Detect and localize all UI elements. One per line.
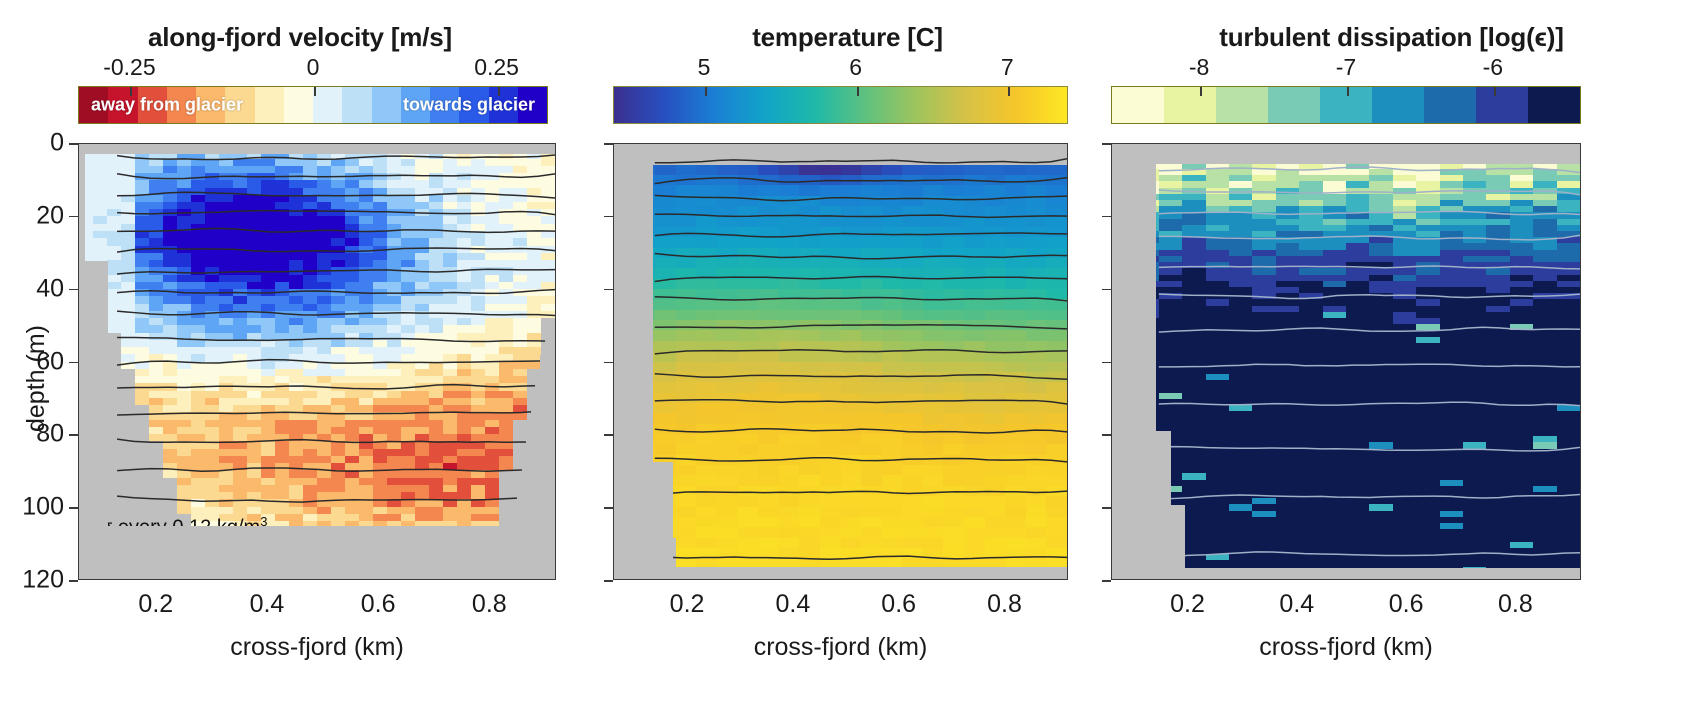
y-axis-tick (1102, 580, 1111, 582)
colorbar-tick-mark (1494, 87, 1496, 96)
bathymetry-mask-left (79, 144, 85, 579)
y-axis-tick (1102, 216, 1111, 218)
colorbar-tick-label: -0.25 (103, 54, 155, 81)
colorbar-tick-label: 0.25 (474, 54, 519, 81)
x-axis-tick-label: 0.2 (138, 590, 173, 619)
isopycnal-contour (655, 159, 1067, 163)
isopycnal-contour (655, 556, 1067, 559)
panel1-colorbar-title: along-fjord velocity [m/s] (0, 22, 600, 53)
x-axis-tick-label: 0.4 (250, 590, 285, 619)
isopycnal-contour (655, 458, 1067, 462)
isopycnal-contour (1159, 294, 1580, 299)
y-axis-tick (604, 216, 613, 218)
colorbar-tick-label: 5 (698, 54, 711, 81)
colorbar-band-3 (1372, 87, 1424, 123)
y-axis-tick-label: 100 (0, 493, 64, 522)
isopycnal-contour (1159, 235, 1580, 240)
x-axis-tick-label: 0.8 (987, 590, 1022, 619)
bathymetry-mask-bottom (79, 526, 555, 579)
isopycnal-contour (1159, 211, 1580, 214)
panel1-colorbar: away from glacier towards glacier (78, 86, 548, 124)
y-axis-tick-label: 120 (0, 566, 64, 595)
x-axis-tick-label: 0.8 (1498, 590, 1533, 619)
figure-root: along-fjord velocity [m/s] -0.2500.25 aw… (0, 0, 1688, 712)
isopycnal-contour (117, 439, 555, 442)
isopycnal-contour (117, 338, 555, 342)
y-axis-tick (604, 289, 613, 291)
y-axis-tick (69, 507, 78, 509)
isopycnal-contour (117, 360, 555, 366)
isopycnal-contour (655, 350, 1067, 354)
colorbar-annotation-away: away from glacier (91, 95, 243, 116)
isopycnal-contour (1159, 447, 1580, 451)
isopycnal-contour (1159, 495, 1580, 500)
colorbar-band-4 (1320, 87, 1372, 123)
colorbar-band-2 (1424, 87, 1476, 123)
isopycnal-contour (1159, 364, 1580, 367)
colorbar-tick-mark (1200, 87, 1202, 96)
colorbar-tick-label: -6 (1483, 54, 1503, 81)
panel3-colorbar-title-text: turbulent dissipation [log(ϵ)] (1219, 22, 1563, 52)
panel-temperature: temperature [C] 567 0.20.40.60.8 cross-f… (600, 0, 1095, 712)
panel1-colorbar-ticklabels: -0.2500.25 (78, 54, 548, 80)
x-axis-tick-label: 0.2 (670, 590, 705, 619)
y-axis-tick (69, 216, 78, 218)
panel1-x-axis-label: cross-fjord (km) (230, 633, 404, 662)
isopycnal-contour (117, 174, 555, 179)
isopycnal-contour (117, 228, 555, 232)
panel2-colorbar (613, 86, 1068, 124)
y-axis-tick (1102, 289, 1111, 291)
panel2-colorbar-ticklabels: 567 (613, 54, 1068, 80)
x-axis-tick-label: 0.6 (361, 590, 396, 619)
colorbar-tick-mark (498, 87, 500, 96)
colorbar-tick-mark (705, 87, 707, 96)
isopycnal-contour (655, 214, 1067, 217)
isopycnal-contour (655, 195, 1067, 200)
colorbar-tick-label: 7 (1001, 54, 1014, 81)
surface-mask (614, 144, 1067, 157)
x-axis-tick-label: 0.4 (775, 590, 810, 619)
colorbar-annotation-towards: towards glacier (403, 95, 535, 116)
isopycnal-contour (117, 211, 555, 215)
isopycnal-contour (1159, 327, 1580, 332)
panel-along-fjord-velocity: along-fjord velocity [m/s] -0.2500.25 aw… (0, 0, 600, 712)
isopycnal-contour (655, 325, 1067, 329)
colorbar-band-7 (1164, 87, 1216, 123)
y-axis-tick (1102, 143, 1111, 145)
panel3-x-axis-label: cross-fjord (km) (1259, 633, 1433, 662)
x-axis-tick-label: 0.2 (1170, 590, 1205, 619)
colorbar-band-7 (313, 87, 342, 123)
x-axis-tick-label: 0.6 (1389, 590, 1424, 619)
colorbar-tick-mark (314, 87, 316, 96)
y-axis-tick (1102, 434, 1111, 436)
isopycnal-contour (1159, 167, 1580, 172)
y-axis-tick (604, 362, 613, 364)
colorbar-tick-mark (857, 87, 859, 96)
surface-mask (1112, 144, 1580, 164)
isopycnal-contour (655, 297, 1067, 301)
isopycnal-contour (655, 429, 1067, 433)
isopycnal-contour (117, 409, 555, 415)
y-axis-tick-label: 0 (0, 129, 64, 158)
isopycnal-contour (117, 155, 555, 160)
y-axis-tick (604, 580, 613, 582)
isopycnal-contour (1159, 190, 1580, 195)
x-axis-tick-label: 0.8 (472, 590, 507, 619)
isopycnal-contour (117, 385, 555, 389)
colorbar-tick-label: -8 (1189, 54, 1209, 81)
isopycnal-contour (1159, 266, 1580, 269)
bathymetry-mask-bottom (614, 567, 1067, 579)
y-axis-tick (604, 507, 613, 509)
colorbar-band-6 (342, 87, 371, 123)
isopycnal-contour (655, 277, 1067, 282)
bathymetry-mask-left (614, 462, 673, 579)
colorbar-band-5 (372, 87, 401, 123)
y-axis-tick (69, 434, 78, 436)
isopycnal-contour (117, 311, 555, 315)
y-axis-tick (69, 362, 78, 364)
panel-turbulent-dissipation: turbulent dissipation [log(ϵ)] -8-7-6 0.… (1095, 0, 1688, 712)
isopycnal-contour (117, 192, 555, 198)
panel3-colorbar (1111, 86, 1581, 124)
isopycnal-contour (117, 248, 555, 252)
isopycnal-contour (117, 467, 555, 472)
colorbar-band-1 (1476, 87, 1528, 123)
panel1-density-contours (79, 144, 555, 579)
y-axis-tick (604, 143, 613, 145)
colorbar-band-8 (284, 87, 313, 123)
colorbar-band-0 (1528, 87, 1580, 123)
colorbar-tick-mark (130, 87, 132, 96)
y-axis-tick-label: 20 (0, 201, 64, 230)
colorbar-band-6 (1216, 87, 1268, 123)
isopycnal-contour (117, 496, 555, 502)
y-axis-tick (604, 434, 613, 436)
bathymetry-mask-bottom (1112, 568, 1580, 579)
panel2-colorbar-title: temperature [C] (600, 22, 1095, 53)
panel1-axes (78, 143, 556, 580)
isopycnal-contour (117, 269, 555, 274)
isopycnal-contour (1159, 402, 1580, 405)
panel3-axes (1111, 143, 1581, 580)
colorbar-band-9 (255, 87, 284, 123)
y-axis-tick (1102, 507, 1111, 509)
panel3-colorbar-title: turbulent dissipation [log(ϵ)] (1095, 22, 1688, 53)
colorbar-gradient (614, 87, 1067, 123)
y-axis-label: depth (m) (22, 325, 51, 432)
colorbar-tick-label: -7 (1336, 54, 1356, 81)
panel3-colorbar-ticklabels: -8-7-6 (1111, 54, 1581, 80)
colorbar-tick-label: 0 (307, 54, 320, 81)
colorbar-tick-label: 6 (849, 54, 862, 81)
y-axis-tick (1102, 362, 1111, 364)
colorbar-tick-mark (1008, 87, 1010, 96)
colorbar-band-5 (1268, 87, 1320, 123)
panel2-x-axis-label: cross-fjord (km) (754, 633, 928, 662)
isopycnal-contour (655, 400, 1067, 404)
y-axis-tick (69, 580, 78, 582)
colorbar-tick-mark (1347, 87, 1349, 96)
x-axis-tick-label: 0.4 (1279, 590, 1314, 619)
isopycnal-contour (655, 178, 1067, 184)
isopycnal-contour (1159, 552, 1580, 557)
surface-mask (79, 144, 555, 154)
y-axis-tick-label: 40 (0, 274, 64, 303)
isopycnal-contour (655, 491, 1067, 495)
isopycnal-contour (655, 233, 1067, 237)
isopycnal-contour (117, 290, 555, 294)
y-axis-tick (69, 289, 78, 291)
y-axis-tick (69, 143, 78, 145)
colorbar-band-8 (1112, 87, 1164, 123)
panel2-axes (613, 143, 1068, 580)
x-axis-tick-label: 0.6 (881, 590, 916, 619)
isopycnal-contour (655, 374, 1067, 379)
isopycnal-contour (655, 253, 1067, 258)
panel2-density-contours (614, 144, 1067, 579)
